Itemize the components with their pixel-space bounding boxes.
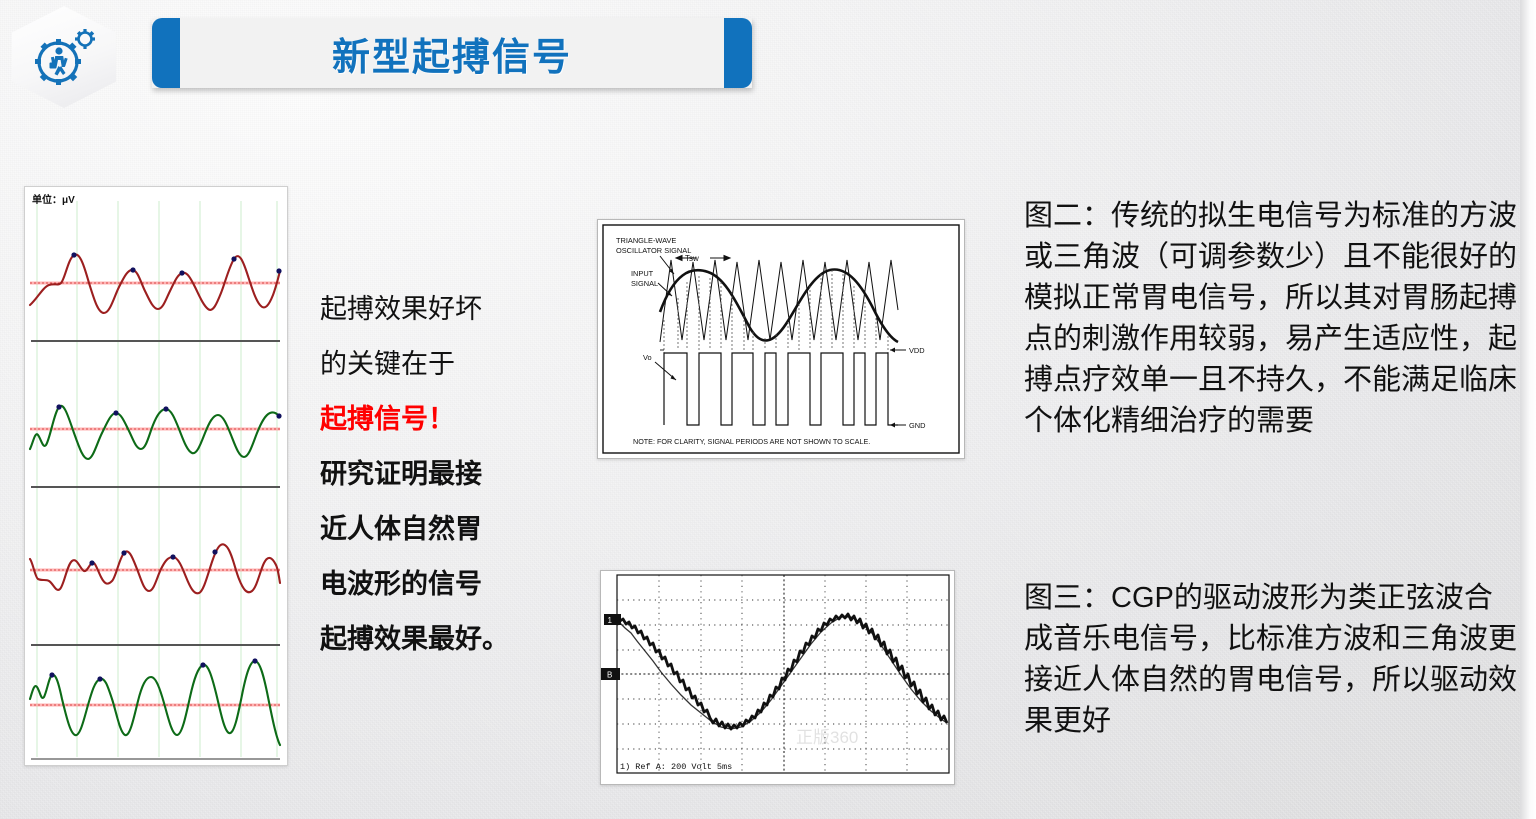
center-line-2: 的关键在于 (320, 337, 570, 392)
scope-ground-label: B (607, 671, 612, 680)
label-input-line1: INPUT (631, 269, 654, 278)
figure-3-caption: 图三：CGP的驱动波形为类正弦波合成音乐电信号，比标准方波和三角波更接近人体自然… (1024, 578, 1520, 742)
center-line-6: 电波形的信号 (320, 557, 570, 612)
slide-right-edge (1520, 0, 1536, 819)
scope-watermark: 正版360 (796, 728, 858, 747)
label-input-line2: SIGNAL (631, 279, 658, 288)
scope-channel-marker: 1 (604, 614, 621, 625)
label-oscillator-line2: OSCILLATOR SIGNAL (616, 246, 691, 255)
egg-waveform-chart (25, 187, 288, 766)
page-title: 新型起搏信号 (152, 18, 752, 88)
label-oscillator-line1: TRIANGLE-WAVE (616, 236, 676, 245)
slide-title-bar: 新型起搏信号 (152, 18, 752, 88)
figure-2-caption: 图二：传统的拟生电信号为标准的方波或三角波（可调参数少）且不能很好的模拟正常胃电… (1024, 196, 1520, 442)
label-vo: Vo (643, 353, 652, 362)
slide-header: 新型起搏信号 (0, 0, 1536, 112)
center-line-7: 起搏效果最好。 (320, 612, 570, 667)
scope-status-text: 1) Ref A: 200 Volt 5ms (620, 762, 732, 772)
center-line-5: 近人体自然胃 (320, 502, 570, 557)
egg-waveform-panel: 单位：μV (24, 186, 288, 766)
center-line-1: 起搏效果好坏 (320, 282, 570, 337)
center-text-block: 起搏效果好坏 的关键在于 起搏信号！ 研究证明最接 近人体自然胃 电波形的信号 … (320, 282, 570, 667)
center-line-4: 研究证明最接 (320, 447, 570, 502)
scope-ground-marker: B (601, 668, 620, 680)
logo-badge (12, 6, 116, 108)
figure-3-oscilloscope: 1 B 正版360 1) Ref A: 200 Volt 5ms (600, 570, 955, 785)
center-highlight: 起搏信号！ (320, 392, 570, 447)
scope-channel-label: 1 (608, 616, 613, 625)
egg-unit-label: 单位：μV (32, 191, 75, 206)
label-gnd: GND (909, 421, 925, 430)
businessman-in-gear-icon (32, 27, 96, 87)
figure-2-pwm-diagram: TRIANGLE-WAVE OSCILLATOR SIGNAL INPUT SI… (597, 219, 965, 459)
label-vdd: VDD (909, 346, 925, 355)
fig2-note: NOTE: FOR CLARITY, SIGNAL PERIODS ARE NO… (633, 437, 870, 446)
